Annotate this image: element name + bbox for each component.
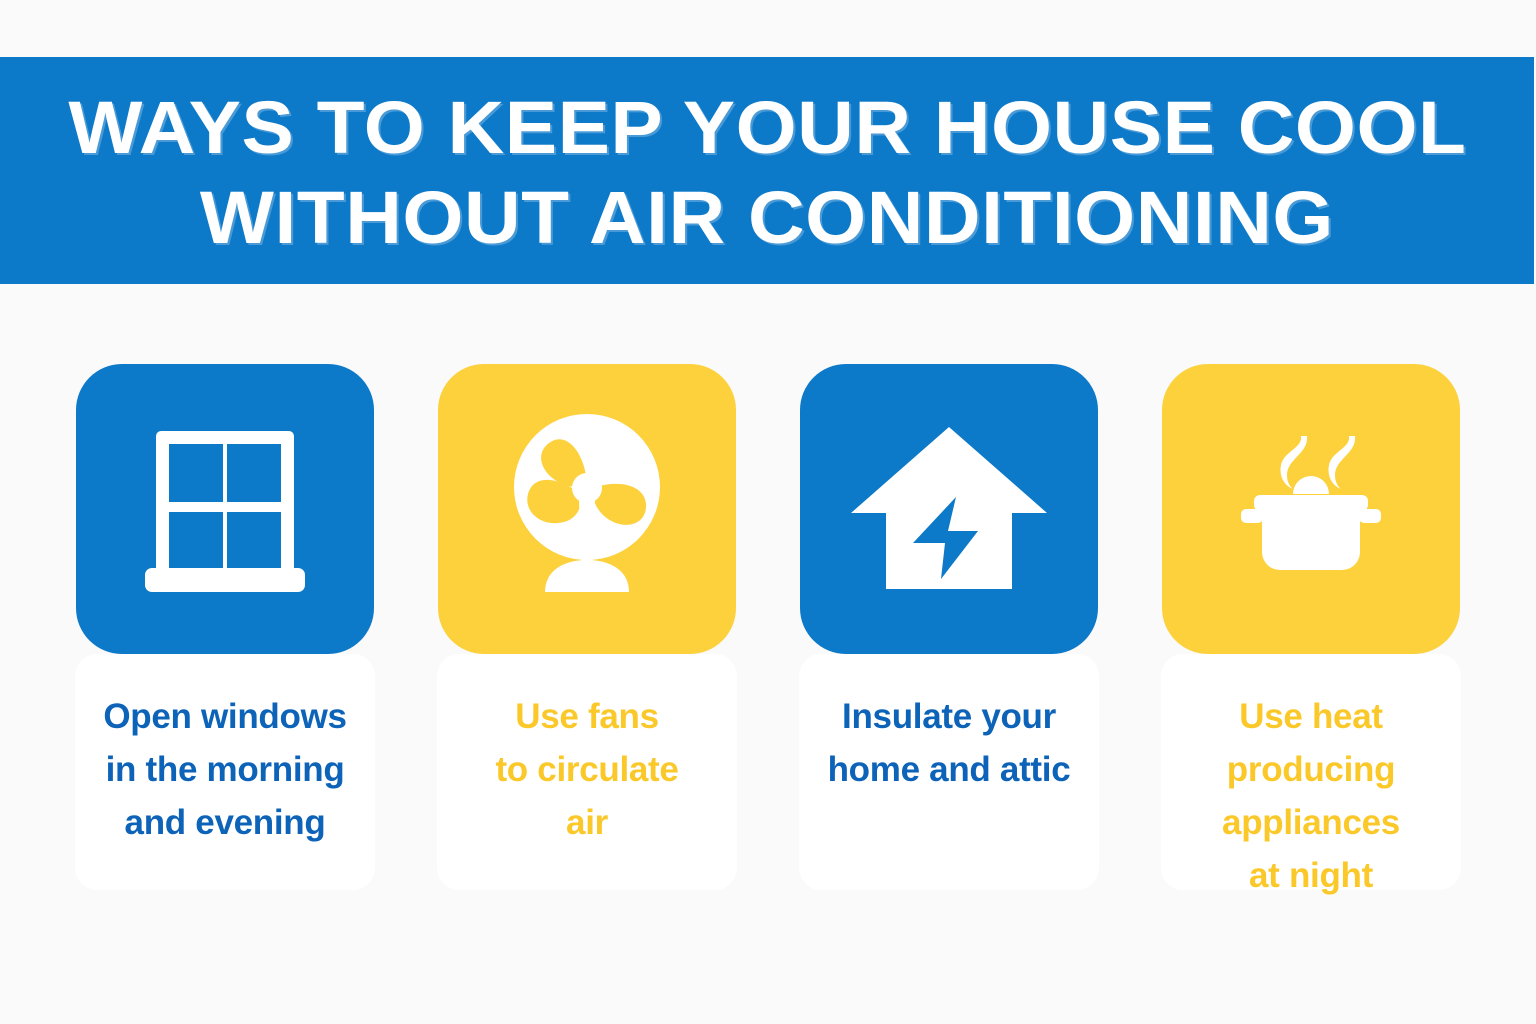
window-icon [125, 409, 325, 609]
tip-card-heat-appliances[interactable]: Use heat producing appliances at night [1161, 364, 1461, 902]
icon-tile-window [76, 364, 374, 654]
tip-card-insulate-home[interactable]: Insulate your home and attic [799, 364, 1099, 902]
icon-tile-fan [438, 364, 736, 654]
tip-card-open-windows[interactable]: Open windows in the morning and evening [75, 364, 375, 902]
cooking-pot-icon [1211, 409, 1411, 609]
tips-card-row: Open windows in the morning and evening [0, 364, 1536, 902]
caption-line: to circulate [437, 743, 737, 796]
header-banner: WAYS TO KEEP YOUR HOUSE COOL WITHOUT AIR… [0, 57, 1534, 284]
caption-line: Use heat [1161, 690, 1461, 743]
tip-card-use-fans[interactable]: Use fans to circulate air [437, 364, 737, 902]
caption-line: Insulate your [799, 690, 1099, 743]
tip-caption-heat-appliances: Use heat producing appliances at night [1161, 690, 1461, 902]
caption-line: and evening [75, 796, 375, 849]
caption-line: Open windows [75, 690, 375, 743]
tip-caption-insulate-home: Insulate your home and attic [799, 690, 1099, 796]
caption-line: at night [1161, 849, 1461, 902]
icon-tile-pot [1162, 364, 1460, 654]
banner-title-line-1: WAYS TO KEEP YOUR HOUSE COOL [68, 83, 1466, 173]
icon-tile-house [800, 364, 1098, 654]
caption-line: Use fans [437, 690, 737, 743]
banner-title-line-2: WITHOUT AIR CONDITIONING [200, 173, 1334, 263]
caption-line: air [437, 796, 737, 849]
tip-caption-use-fans: Use fans to circulate air [437, 690, 737, 849]
house-bolt-icon [844, 409, 1054, 609]
fan-icon [487, 409, 687, 609]
tip-caption-open-windows: Open windows in the morning and evening [75, 690, 375, 849]
caption-line: producing [1161, 743, 1461, 796]
caption-line: appliances [1161, 796, 1461, 849]
caption-line: in the morning [75, 743, 375, 796]
caption-line: home and attic [799, 743, 1099, 796]
